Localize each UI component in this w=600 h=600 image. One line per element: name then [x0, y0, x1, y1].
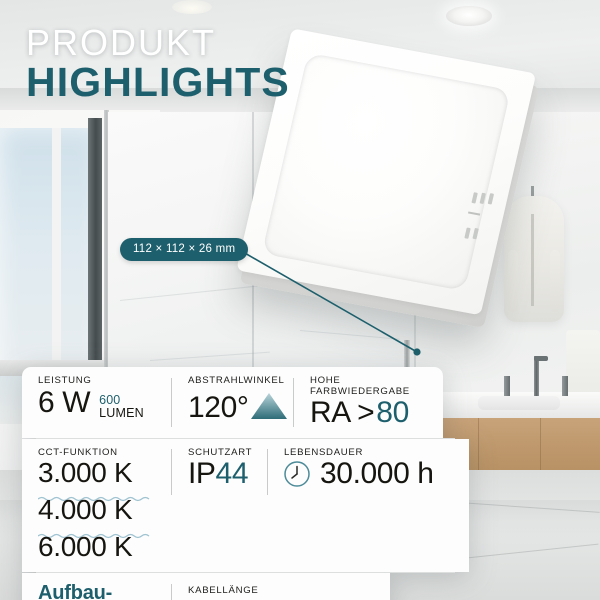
window-glass [0, 128, 100, 378]
headline-block: PRODUKT HIGHLIGHTS [26, 24, 290, 104]
leistung-watt-text: 6 W [38, 387, 90, 419]
spec-cell-lebensdauer: LEBENSDAUER 30.000 h [268, 439, 469, 572]
lebensdauer-value-row: 30.000 h [268, 458, 469, 490]
beam-angle-triangle-icon [249, 391, 289, 421]
spec-cell-schutzart: SCHUTZART IP 44 [172, 439, 268, 572]
spec-cell-kabellaenge: KABELLÄNGE 12 cm [172, 573, 390, 600]
leistung-lumen-group: 600 LUMEN [99, 394, 144, 421]
ceiling-downlight-icon [446, 6, 492, 26]
montage-text-group: Aufbau- Montage [22, 582, 172, 600]
spec-label-leistung: LEISTUNG [22, 376, 172, 387]
lifetime-hours-text: 30.000 h [312, 458, 434, 490]
bathrobe-fold [531, 214, 534, 306]
spec-label-abstrahlwinkel: ABSTRAHLWINKEL [172, 376, 294, 387]
spec-value-leistung: 6 W 600 LUMEN [22, 387, 172, 429]
spec-value-farbwiedergabe: RA > 80 [294, 397, 443, 429]
spec-value-abstrahlwinkel: 120° [172, 387, 294, 424]
panel-vent-slot-3 [488, 193, 494, 204]
bathrobe-sleeve-right [550, 250, 560, 312]
ceiling-downlight-secondary-icon [172, 0, 212, 14]
spec-label-farbwiedergabe: HOHE FARBWIEDERGABE [294, 376, 443, 397]
product-highlight-image: PRODUKT HIGHLIGHTS 112 × 112 × 26 mm LEI… [0, 0, 600, 600]
beam-angle-text: 120° [188, 392, 248, 424]
spec-value-schutzart: IP 44 [172, 458, 268, 490]
sink-basin [478, 396, 560, 410]
ip-prefix-text: IP [188, 458, 216, 490]
window-mullion [52, 128, 61, 378]
cct-value-3: 6.000 K [22, 532, 172, 563]
spec-value-kabellaenge: 12 cm [172, 596, 390, 600]
clock-icon [282, 459, 312, 489]
headline-line-2: HIGHLIGHTS [26, 62, 290, 104]
faucet [534, 356, 539, 396]
spec-cell-abstrahlwinkel: ABSTRAHLWINKEL 120° [172, 367, 294, 438]
lumen-unit: LUMEN [99, 407, 144, 420]
spec-row-2: CCT-FUNKTION 3.000 K 4.000 K 6.000 K S [22, 439, 469, 572]
panel-vent-slot-5 [472, 228, 478, 239]
headline-line-1: PRODUKT [26, 24, 290, 61]
cct-value-2: 4.000 K [22, 495, 172, 526]
spec-cell-farbwiedergabe: HOHE FARBWIEDERGABE RA > 80 [294, 367, 443, 438]
montage-line-1: Aufbau- [38, 582, 172, 600]
dimensions-callout-badge: 112 × 112 × 26 mm [120, 238, 248, 261]
bathrobe-sleeve-left [508, 250, 518, 312]
cct-value-1: 3.000 K [22, 458, 172, 489]
panel-diffuser [262, 53, 511, 291]
ip-rating-text: 44 [216, 458, 249, 490]
specification-card: LEISTUNG 6 W 600 LUMEN ABSTRAHLWINKEL 12… [22, 367, 469, 600]
spec-row-3: Aufbau- Montage KABELLÄNGE 12 cm [22, 573, 390, 600]
lumen-number: 600 [99, 394, 144, 407]
faucet-handle-right [562, 376, 568, 396]
ra-prefix-text: RA > [310, 397, 374, 429]
faucet-spout [534, 356, 548, 361]
window-frame [88, 118, 102, 388]
spec-row-1: LEISTUNG 6 W 600 LUMEN ABSTRAHLWINKEL 12… [22, 367, 443, 438]
spec-cell-montage: Aufbau- Montage [22, 573, 172, 600]
spec-cell-leistung: LEISTUNG 6 W 600 LUMEN [22, 367, 172, 438]
spec-cell-cct: CCT-FUNKTION 3.000 K 4.000 K 6.000 K [22, 439, 172, 572]
ra-value-text: 80 [376, 397, 409, 429]
faucet-handle-left [504, 376, 510, 396]
